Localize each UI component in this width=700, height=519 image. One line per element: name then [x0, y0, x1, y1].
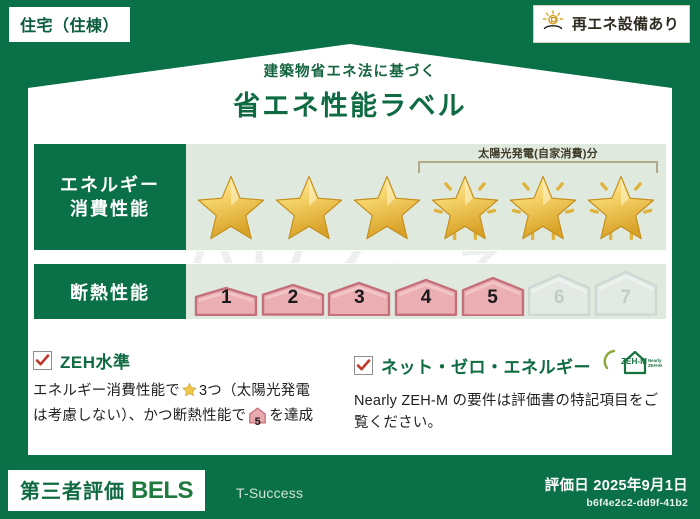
inline-house-number: 5 [248, 414, 267, 431]
bels-en-label: BELS [131, 477, 193, 505]
star-icon-solar [584, 172, 658, 246]
claim-zeh-text-2: 3つ（太陽光発電 [199, 383, 310, 399]
zeh-m-logo-icon: ZEH-M Nearly ZEH-M [603, 348, 667, 383]
evaluation-info: 評価日 2025年9月1日 b6f4e2c2-dd9f-41b2 [545, 474, 688, 509]
inline-star-icon [181, 386, 198, 402]
claim-net-zero-energy: ネット・ゼロ・エネルギー ZEH-M Nearly ZEH-M Nearly Z… [354, 348, 667, 435]
claim-zeh-standard: ZEH水準 エネルギー消費性能で3つ（太陽光発電 は考慮しない）、かつ断熱性能で… [33, 348, 334, 435]
energy-performance-label: エネルギー 消費性能 [34, 144, 186, 250]
bels-jp-label: 第三者評価 [20, 475, 125, 504]
company-name: T-Success [236, 485, 303, 501]
star-icon-solar [428, 172, 502, 246]
insulation-step-2: 2 [261, 283, 326, 316]
bels-badge: 第三者評価 BELS [8, 470, 205, 511]
claim-zeh-body: エネルギー消費性能で3つ（太陽光発電 は考慮しない）、かつ断熱性能で5を達成 [33, 380, 334, 432]
energy-performance-body: 太陽光発電(自家消費)分 [186, 144, 666, 250]
claim-zeh-text-4: を達成 [269, 408, 313, 424]
renewable-badge-label: 再エネ設備あり [572, 13, 679, 34]
svg-text:ZEH-M: ZEH-M [621, 357, 647, 366]
insulation-step-group: 1 2 3 4 5 6 7 [194, 264, 658, 319]
star-icon [194, 172, 268, 246]
evaluation-id: b6f4e2c2-dd9f-41b2 [545, 497, 688, 509]
energy-label-card: ハウスこえ 住宅（住棟） 再エネ設備あり 建築物省エネ法に基づく 省エネ性能ラベ… [0, 0, 700, 519]
insulation-performance-row: 断熱性能 1 2 3 4 5 6 7 [33, 263, 667, 320]
zeh-standard-checkbox[interactable] [33, 351, 52, 370]
insulation-step-7: 7 [593, 270, 658, 316]
insulation-step-4: 4 [394, 278, 459, 316]
claims-section: ZEH水準 エネルギー消費性能で3つ（太陽光発電 は考慮しない）、かつ断熱性能で… [33, 348, 667, 435]
renewable-energy-badge: 再エネ設備あり [533, 5, 690, 43]
claim-nze-header: ネット・ゼロ・エネルギー ZEH-M Nearly ZEH-M [354, 348, 667, 383]
claim-zeh-header: ZEH水準 [33, 348, 334, 373]
star-rating-group [192, 172, 660, 246]
insulation-step-5: 5 [460, 276, 525, 316]
sun-icon [541, 10, 565, 37]
title-block: 建築物省エネ法に基づく 省エネ性能ラベル [0, 60, 700, 123]
insulation-performance-body: 1 2 3 4 5 6 7 [186, 264, 666, 319]
star-icon-solar [506, 172, 580, 246]
claim-nze-body: Nearly ZEH-M の要件は評価書の特記項目をご覧ください。 [354, 390, 667, 435]
evaluation-date: 評価日 2025年9月1日 [545, 474, 688, 495]
insulation-step-6: 6 [527, 273, 592, 316]
star-icon [272, 172, 346, 246]
svg-text:ZEH-M: ZEH-M [648, 363, 662, 368]
claim-zeh-text-3: は考慮しない）、かつ断熱性能で [33, 408, 246, 424]
solar-caption: 太陽光発電(自家消費)分 [418, 145, 658, 161]
claim-nze-title: ネット・ゼロ・エネルギー [381, 353, 591, 378]
claim-zeh-text-1: エネルギー消費性能で [33, 383, 180, 399]
title-subtitle: 建築物省エネ法に基づく [0, 60, 700, 81]
insulation-performance-label: 断熱性能 [34, 264, 186, 319]
insulation-step-1: 1 [194, 286, 259, 316]
house-type-chip: 住宅（住棟） [8, 6, 131, 43]
page-title: 省エネ性能ラベル [0, 84, 700, 123]
net-zero-energy-checkbox[interactable] [354, 356, 373, 375]
inline-house-icon: 5 [248, 407, 267, 431]
energy-performance-row: エネルギー 消費性能 太陽光発電(自家消費)分 [33, 143, 667, 251]
claim-zeh-title: ZEH水準 [60, 348, 131, 373]
insulation-step-3: 3 [327, 281, 392, 316]
star-icon [350, 172, 424, 246]
